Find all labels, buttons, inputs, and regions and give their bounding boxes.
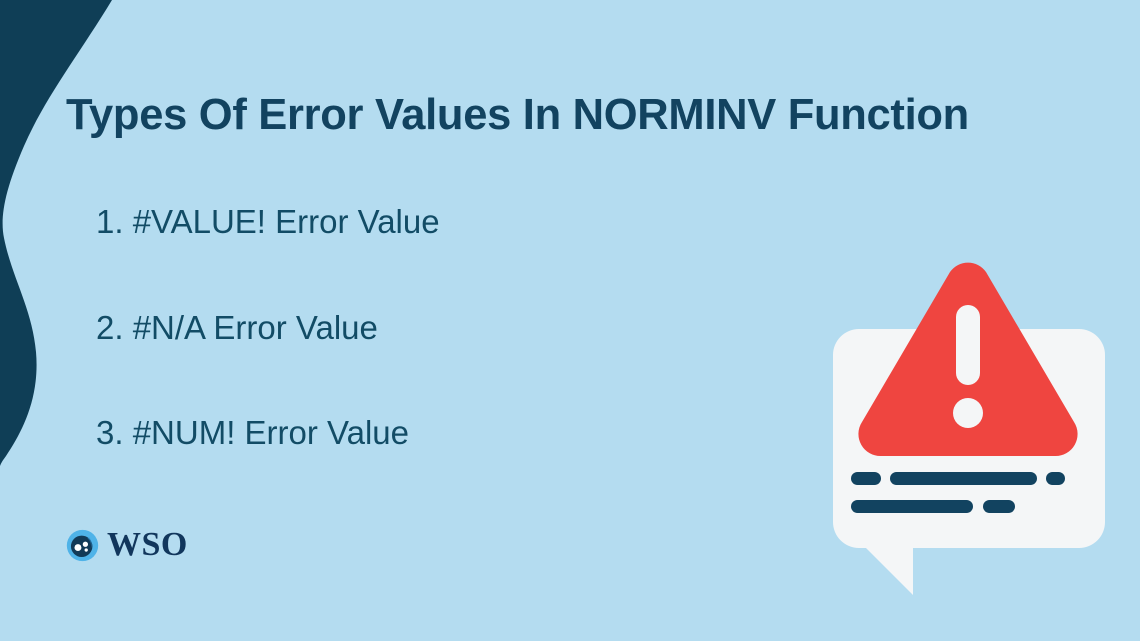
wso-logo: WSO	[66, 528, 188, 562]
logo-text: WSO	[107, 528, 188, 562]
slide-canvas: Types Of Error Values In NORMINV Functio…	[0, 0, 1140, 641]
globe-icon	[66, 529, 99, 562]
list-item: 3. #NUM! Error Value	[96, 416, 716, 451]
error-message-illustration	[800, 250, 1130, 615]
page-title: Types Of Error Values In NORMINV Functio…	[66, 92, 1126, 139]
list-item: 1. #VALUE! Error Value	[96, 205, 716, 240]
error-values-list: 1. #VALUE! Error Value 2. #N/A Error Val…	[96, 205, 716, 451]
list-item: 2. #N/A Error Value	[96, 311, 716, 346]
